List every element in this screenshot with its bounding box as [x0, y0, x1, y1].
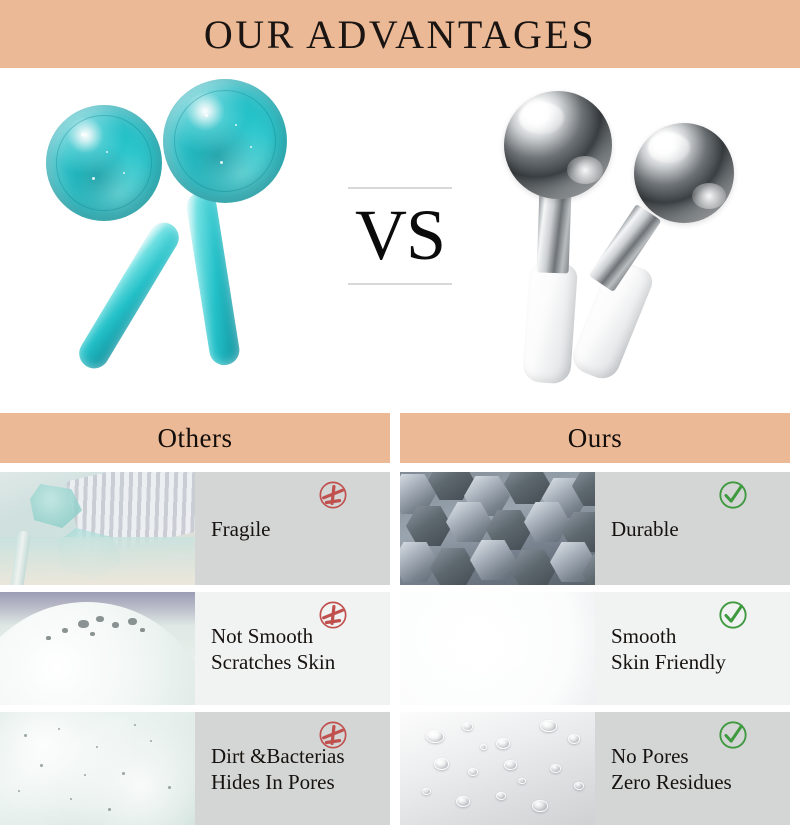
row-label-line: Not Smooth — [211, 623, 382, 649]
row-text-panel: Dirt &Bacterias Hides In Pores — [195, 712, 390, 825]
row-label-line: Skin Friendly — [611, 649, 782, 675]
versus-label: VS — [355, 189, 445, 283]
row-label-line: Durable — [611, 516, 782, 542]
row-label-line: Fragile — [211, 516, 382, 542]
hero-image-ours — [460, 73, 790, 403]
comparison-column-ours: Ours — [400, 413, 790, 800]
row-text-panel: Durable — [595, 472, 790, 585]
cross-icon — [318, 480, 348, 510]
row-label-line: Zero Residues — [611, 769, 782, 795]
check-icon — [718, 720, 748, 750]
table-row: Smooth Skin Friendly — [400, 592, 790, 705]
cross-icon — [318, 720, 348, 750]
others-rows: Fragile — [0, 472, 390, 825]
table-row: Durable — [400, 472, 790, 585]
table-row: Fragile — [0, 472, 390, 585]
ice-globe-stem-right — [184, 190, 241, 368]
column-header-others: Others — [0, 413, 390, 463]
row-image-hex-metal — [400, 472, 595, 585]
row-text-panel: Fragile — [195, 472, 390, 585]
row-image-rough-surface — [0, 592, 195, 705]
row-text-panel: Not Smooth Scratches Skin — [195, 592, 390, 705]
cross-icon — [318, 600, 348, 630]
chrome-ice-rollers-illustration — [460, 73, 790, 403]
table-row: Dirt &Bacterias Hides In Pores — [0, 712, 390, 825]
row-label-line: Smooth — [611, 623, 782, 649]
roller-head-left — [504, 91, 612, 199]
ice-globe-head-left — [46, 105, 162, 221]
row-image-dirty-surface — [0, 712, 195, 825]
check-icon — [718, 480, 748, 510]
ice-globe-head-right — [163, 79, 287, 203]
row-text-panel: Smooth Skin Friendly — [595, 592, 790, 705]
column-header-ours: Ours — [400, 413, 790, 463]
row-image-water-beads — [400, 712, 595, 825]
column-header-others-label: Others — [158, 423, 233, 454]
table-row: Not Smooth Scratches Skin — [0, 592, 390, 705]
versus-mark: VS — [345, 168, 455, 303]
row-image-polished-chrome — [400, 592, 595, 705]
ours-rows: Durable — [400, 472, 790, 825]
glass-ice-globes-illustration — [10, 73, 340, 403]
row-label-line: No Pores — [611, 743, 782, 769]
comparison-column-others: Others — [0, 413, 390, 800]
roller-head-right — [634, 123, 734, 223]
row-image-broken-glass — [0, 472, 195, 585]
column-header-ours-label: Ours — [568, 423, 623, 454]
header-banner: OUR ADVANTAGES — [0, 0, 800, 68]
row-label-line: Hides In Pores — [211, 769, 382, 795]
hero-comparison-band: VS — [0, 68, 800, 413]
ice-globe-stem-left — [74, 217, 185, 374]
check-icon — [718, 600, 748, 630]
comparison-table: Others — [0, 413, 800, 800]
roller-handle-left — [522, 261, 578, 384]
hero-image-others — [10, 73, 340, 403]
row-label-line: Scratches Skin — [211, 649, 382, 675]
row-label-line: Dirt &Bacterias — [211, 743, 382, 769]
roller-neck-left — [537, 190, 572, 273]
page-title: OUR ADVANTAGES — [204, 11, 596, 58]
row-text-panel: No Pores Zero Residues — [595, 712, 790, 825]
infographic-page: OUR ADVANTAGES — [0, 0, 800, 800]
table-row: No Pores Zero Residues — [400, 712, 790, 825]
versus-rule-bottom — [348, 283, 452, 285]
